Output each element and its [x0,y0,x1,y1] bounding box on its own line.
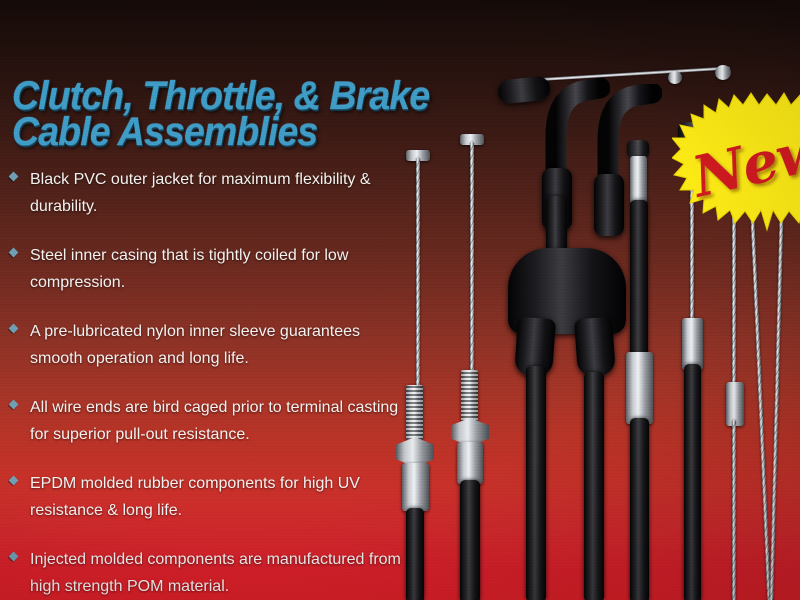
cable-adjuster-a [406,385,423,440]
cable-wire-h [750,208,771,600]
cable-jacket-b [460,480,480,600]
cable-y-leg-right [574,317,616,378]
feature-text: Steel inner casing that is tightly coile… [30,242,408,296]
feature-text: A pre-lubricated nylon inner sleeve guar… [30,318,408,372]
cable-end-top-mid [668,71,682,84]
cable-adjuster-b [461,370,478,422]
cable-jacket-e2 [630,418,649,600]
list-item: EPDM molded rubber components for high U… [8,470,408,524]
diamond-bullet-icon [9,248,19,258]
feature-list: Black PVC outer jacket for maximum flexi… [8,166,408,600]
cable-end-top-right [715,65,731,80]
list-item: Steel inner casing that is tightly coile… [8,242,408,296]
advertisement-banner: New! Clutch, Throttle, & Brake Cable Ass… [0,0,800,600]
list-item: All wire ends are bird caged prior to te… [8,394,408,448]
cable-jacket-f [684,364,701,600]
diamond-bullet-icon [9,172,19,182]
cable-jacket-a [406,508,424,600]
feature-text: Black PVC outer jacket for maximum flexi… [30,166,408,220]
list-item: Black PVC outer jacket for maximum flexi… [8,166,408,220]
list-item: A pre-lubricated nylon inner sleeve guar… [8,318,408,372]
cable-ferrule-b [457,442,483,484]
title-line-2: Cable Assemblies [12,114,501,150]
diamond-bullet-icon [9,552,19,562]
cable-wire-b [470,142,474,374]
cable-collar-e [626,352,653,424]
cable-wire-g2 [732,420,736,600]
page-title: Clutch, Throttle, & Brake Cable Assembli… [12,78,501,150]
cable-jacket-e [630,200,648,360]
list-item: Injected molded components are manufactu… [8,546,408,600]
diamond-bullet-icon [9,324,19,334]
cable-ferrule-f [682,318,703,370]
cable-jacket-y-right [584,372,604,600]
feature-text: EPDM molded rubber components for high U… [30,470,408,524]
cable-ferrule-e [630,156,647,204]
cable-wire-i [769,196,784,600]
cable-jacket-y-left [526,366,546,600]
diamond-bullet-icon [9,400,19,410]
new-badge: New! [672,92,800,232]
cable-boot-d [594,174,624,236]
feature-text: All wire ends are bird caged prior to te… [30,394,408,448]
diamond-bullet-icon [9,476,19,486]
feature-text: Injected molded components are manufactu… [30,546,408,600]
